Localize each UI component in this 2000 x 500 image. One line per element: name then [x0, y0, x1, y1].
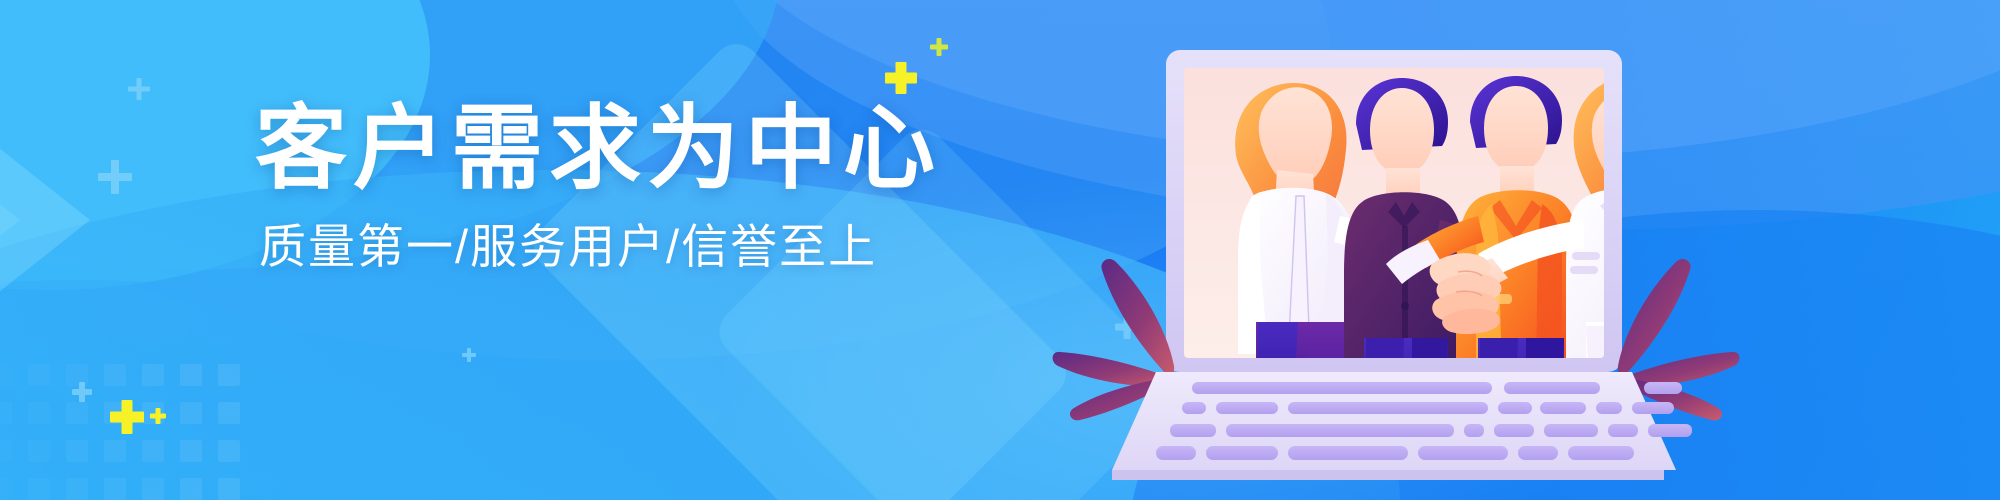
background-chevron-1 — [0, 125, 90, 315]
grid-dot — [142, 364, 164, 386]
grid-dot — [0, 402, 12, 424]
cyan-plus-mid-left-icon — [98, 160, 132, 194]
cyan-plus-far-left-top-icon — [462, 348, 476, 362]
cyan-plus-bottom-left-icon — [72, 382, 92, 402]
grid-dot — [142, 440, 164, 462]
marketing-banner: 客户需求为中心 质量第一/服务用户/信誉至上 — [0, 0, 2000, 500]
grid-dot — [28, 440, 50, 462]
laptop-keyboard-base — [1112, 372, 1692, 480]
grid-dot — [142, 402, 164, 424]
grid-dot — [66, 364, 88, 386]
grid-dot — [104, 402, 126, 424]
grid-dot — [180, 364, 202, 386]
grid-dot — [218, 478, 240, 500]
grid-dot — [180, 402, 202, 424]
grid-dot — [28, 402, 50, 424]
cyan-plus-top-left-icon — [128, 78, 150, 100]
grid-dot — [104, 478, 126, 500]
grid-dot — [0, 440, 12, 462]
grid-dot — [104, 440, 126, 462]
grid-dot — [66, 402, 88, 424]
grid-dot — [28, 478, 50, 500]
yellow-plus-bottom-left-icon — [110, 400, 144, 434]
yellow-plus-small-bottom-left-icon — [150, 408, 166, 424]
yellow-plus-laptop-small-icon — [930, 38, 948, 56]
background-chevron-2 — [0, 125, 20, 315]
grid-dot — [218, 440, 240, 462]
laptop-team-illustration — [1140, 20, 1700, 480]
grid-dot — [180, 478, 202, 500]
yellow-plus-laptop-left-icon — [885, 62, 917, 94]
grid-dot — [218, 402, 240, 424]
grid-dot — [104, 364, 126, 386]
background-wave-bottom-deep — [0, 280, 650, 500]
page-subtitle: 质量第一/服务用户/信誉至上 — [259, 221, 895, 273]
grid-dot — [0, 364, 12, 386]
grid-dot — [0, 478, 12, 500]
grid-dot — [66, 440, 88, 462]
grid-dot — [142, 478, 164, 500]
grid-dot — [180, 440, 202, 462]
grid-dot — [28, 364, 50, 386]
page-title: 客户需求为中心 — [255, 100, 895, 199]
grid-dot — [218, 364, 240, 386]
grid-dot — [66, 478, 88, 500]
headline-block: 客户需求为中心 质量第一/服务用户/信誉至上 — [255, 100, 895, 273]
